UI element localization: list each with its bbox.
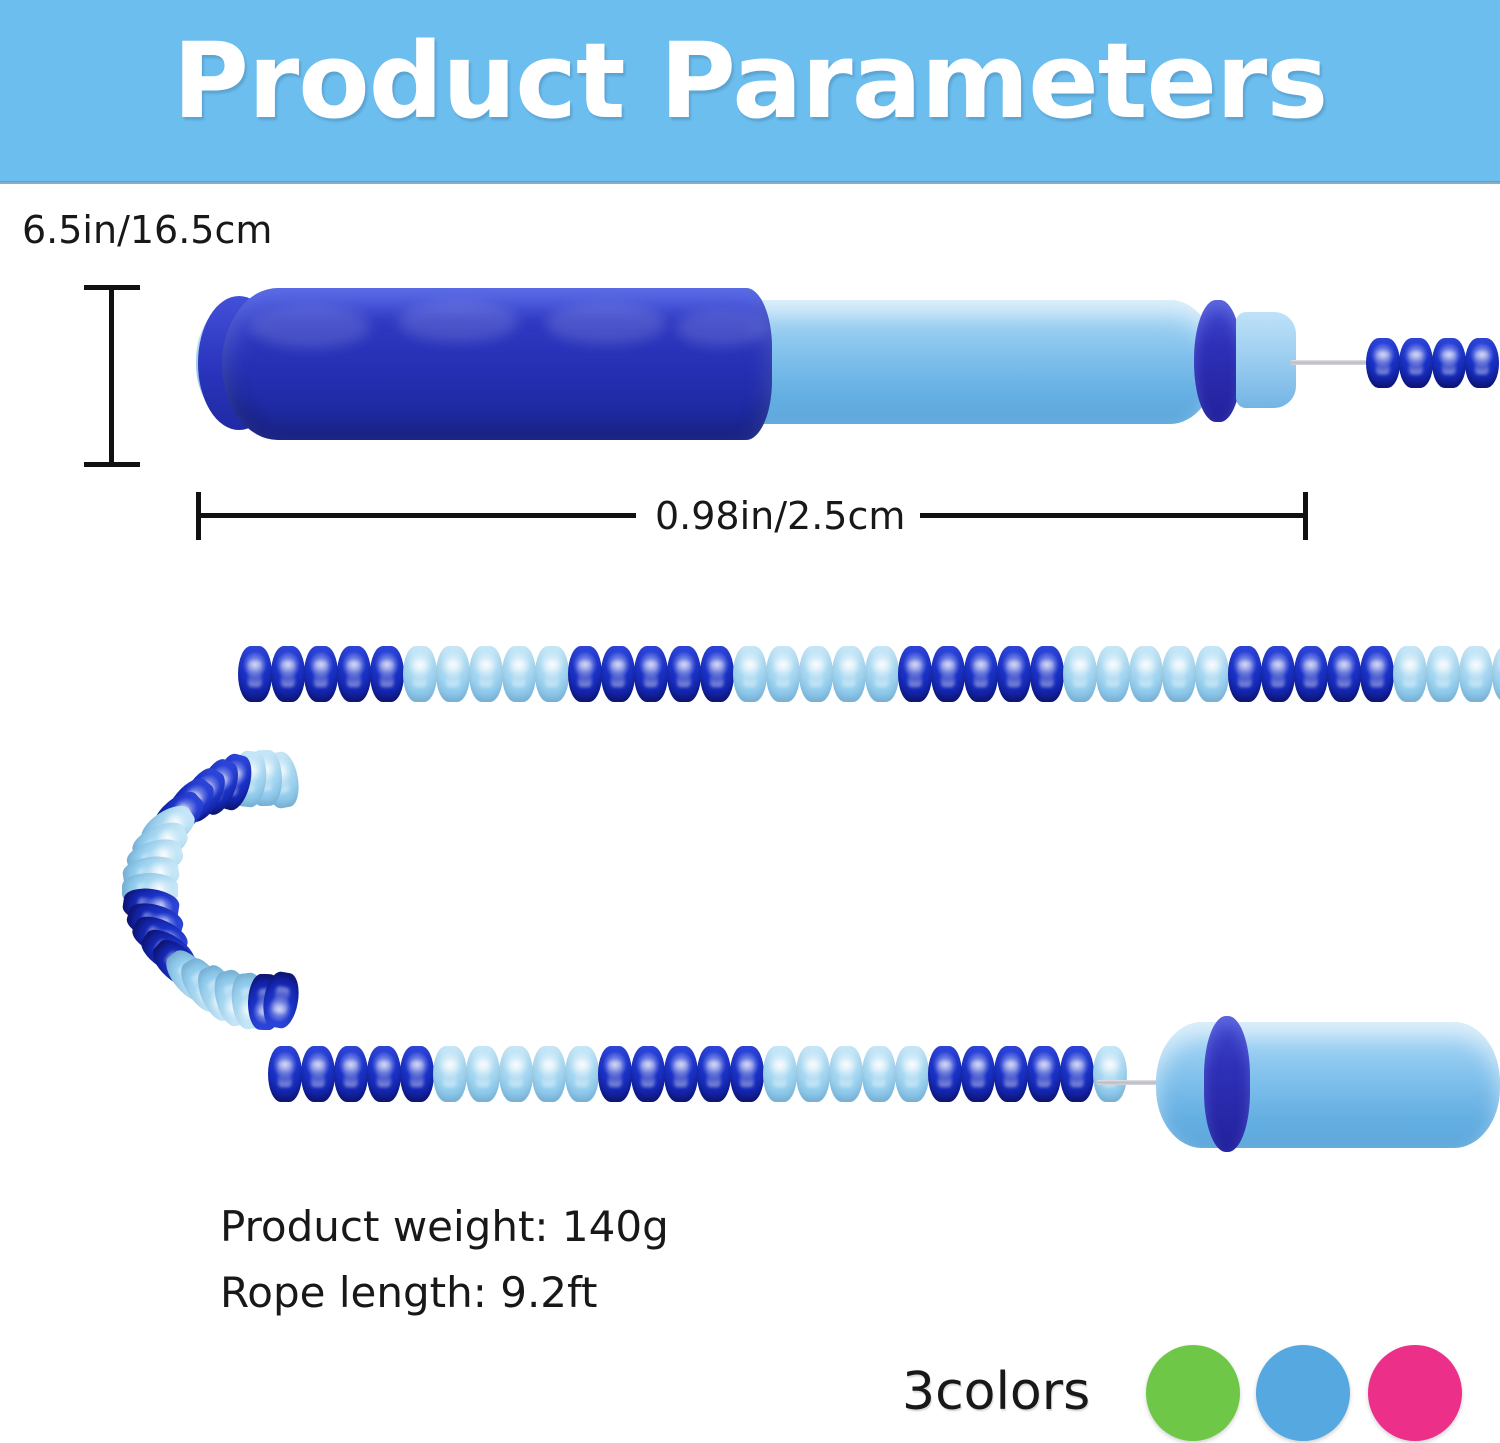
bead [367,1046,401,1102]
grip-contour-2 [398,302,518,342]
bead [1162,646,1196,702]
bead [997,646,1031,702]
bead-highlight [281,661,295,687]
bead [631,1046,665,1102]
width-dimension-right-cap [1303,492,1308,540]
bead-highlight [740,1061,754,1087]
handle-tip [1236,312,1296,408]
colors-count-label: 3colors [902,1362,1090,1422]
bead-highlight [971,1061,985,1087]
bead [796,1046,830,1102]
bead [964,646,998,702]
bead [898,646,932,702]
grip-contour-4 [676,310,768,346]
bead [1465,338,1499,388]
bead-highlight [278,1061,292,1087]
bead [895,1046,929,1102]
bead-highlight [377,1061,391,1087]
bead [1294,646,1328,702]
bead [238,646,272,702]
bead [1027,1046,1061,1102]
bead-highlight [839,1061,853,1087]
bead [1426,646,1460,702]
bead-highlight [1106,661,1120,687]
bead [1459,646,1493,702]
bead-highlight [1304,661,1318,687]
bead-highlight [443,1061,457,1087]
spec-weight: Product weight: 140g [220,1202,669,1251]
handle-cord [1290,360,1370,365]
bead-highlight [272,986,291,1014]
bead-highlight [938,1061,952,1087]
bead-highlight [707,1061,721,1087]
bead [1093,1046,1127,1102]
bead-highlight [344,1061,358,1087]
bead-highlight [575,1061,589,1087]
height-dimension-line [109,285,114,467]
bead [766,646,800,702]
bead [931,646,965,702]
bead [565,1046,599,1102]
bead-highlight [710,661,724,687]
bead [436,646,470,702]
width-dimension-label: 0.98in/2.5cm [655,494,905,538]
bead [469,646,503,702]
bead [700,646,734,702]
bead [862,1046,896,1102]
bead [568,646,602,702]
bead-highlight [1469,661,1483,687]
bead-highlight [1007,661,1021,687]
bead [502,646,536,702]
bead-highlight [641,1061,655,1087]
bead [799,646,833,702]
bead [1492,646,1500,702]
bead [865,646,899,702]
bead-highlight [512,661,526,687]
bead [532,1046,566,1102]
bead-highlight [1070,1061,1084,1087]
bead-highlight [908,661,922,687]
bead-highlight [509,1061,523,1087]
bead-highlight [1139,661,1153,687]
bead-highlight [842,661,856,687]
height-dimension-label: 6.5in/16.5cm [22,208,272,252]
bead [433,1046,467,1102]
bead [1393,646,1427,702]
bead [1195,646,1229,702]
bead-highlight [248,661,262,687]
bead-highlight [311,1061,325,1087]
bead-highlight [1037,1061,1051,1087]
bead-highlight [578,661,592,687]
bead-highlight [974,661,988,687]
bead-highlight [479,661,493,687]
grip-contour-1 [250,306,370,348]
bead-highlight [1073,661,1087,687]
bead [1261,646,1295,702]
bead [961,1046,995,1102]
bead [994,1046,1028,1102]
bead [664,1046,698,1102]
bead-highlight [875,661,889,687]
bead-highlight [347,661,361,687]
handle-lock-ring-bottom [1204,1016,1250,1152]
bead [928,1046,962,1102]
bead [499,1046,533,1102]
bead [334,1046,368,1102]
bead [1129,646,1163,702]
bead [304,646,338,702]
grip-contour-3 [546,304,666,344]
bead [271,646,305,702]
bead-highlight [677,661,691,687]
bead [370,646,404,702]
bead [1063,646,1097,702]
bead [400,1046,434,1102]
width-dimension-line-right [920,513,1308,518]
bead [829,1046,863,1102]
color-swatch-green[interactable] [1146,1345,1240,1441]
bead-highlight [1436,661,1450,687]
bead [667,646,701,702]
bead [1366,338,1400,388]
bead-highlight [773,1061,787,1087]
bead-highlight [380,661,394,687]
bead-highlight [1238,661,1252,687]
bead-highlight [545,661,559,687]
bead [733,646,767,702]
bead [1228,646,1262,702]
bead [598,1046,632,1102]
bead [634,646,668,702]
bead-highlight [1403,661,1417,687]
bead-highlight [905,1061,919,1087]
bead-highlight [446,661,460,687]
bead [730,1046,764,1102]
color-swatch-pink[interactable] [1368,1345,1462,1441]
bead-highlight [941,661,955,687]
bead [535,646,569,702]
bead-highlight [809,661,823,687]
bead-highlight [776,661,790,687]
width-dimension-line-left [196,513,636,518]
bead-highlight [476,1061,490,1087]
bead [1399,338,1433,388]
bead [601,646,635,702]
bead-highlight [611,661,625,687]
bead [1360,646,1394,702]
color-swatch-blue[interactable] [1256,1345,1350,1441]
bead-highlight [1172,661,1186,687]
bead-highlight [608,1061,622,1087]
bead [1432,338,1466,388]
spec-rope-length: Rope length: 9.2ft [220,1268,598,1317]
bead-highlight [413,661,427,687]
bead-highlight [1370,661,1384,687]
bead [1030,646,1064,702]
bead-highlight [644,661,658,687]
bead [763,1046,797,1102]
bead-highlight [806,1061,820,1087]
bead [1096,646,1130,702]
product-parameters-page: Product Parameters 6.5in/16.5cm 0.98in/2… [0,0,1500,1443]
bead-highlight [314,661,328,687]
handle-lock-ring [1194,300,1242,422]
bead [1060,1046,1094,1102]
bead-highlight [1271,661,1285,687]
bead-highlight [1040,661,1054,687]
bead [1327,646,1361,702]
bead [832,646,866,702]
bead-highlight [743,661,757,687]
bead-highlight [410,1061,424,1087]
bead [301,1046,335,1102]
bead-highlight [1337,661,1351,687]
bead [268,1046,302,1102]
page-title: Product Parameters [0,24,1500,138]
bead [697,1046,731,1102]
height-dimension-bottom-cap [84,462,140,467]
bead [403,646,437,702]
bead-highlight [872,1061,886,1087]
bead-highlight [542,1061,556,1087]
bead [337,646,371,702]
bead-highlight [1205,661,1219,687]
header-divider [0,181,1500,184]
bead-highlight [674,1061,688,1087]
bead-highlight [1004,1061,1018,1087]
bead [466,1046,500,1102]
